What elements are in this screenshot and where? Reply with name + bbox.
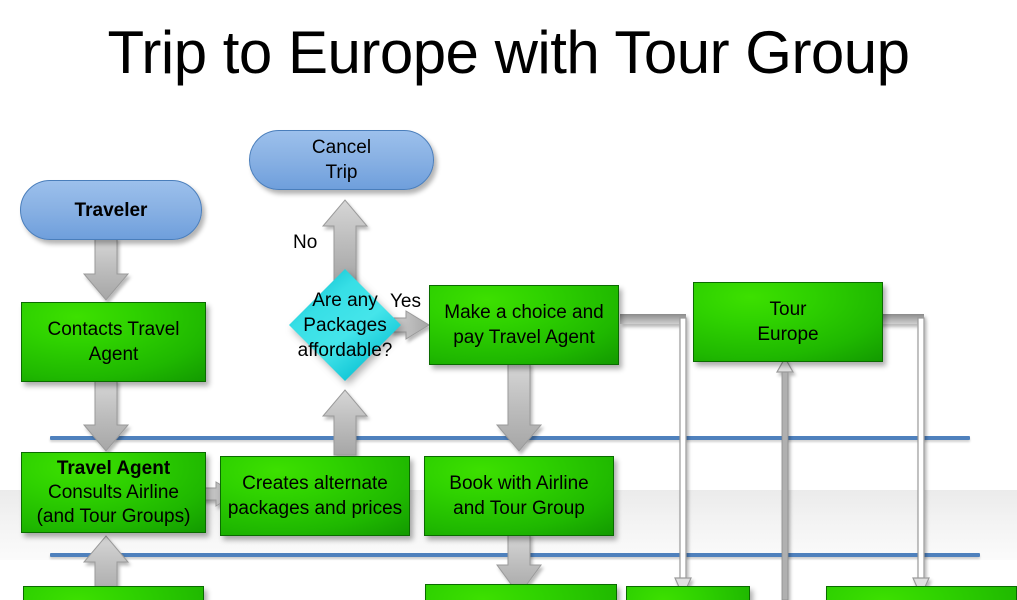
node-cancel-trip-line2: Trip — [325, 160, 357, 185]
node-cancel-trip-line1: Cancel — [312, 135, 371, 160]
node-book-airline[interactable]: Book with Airline and Tour Group — [424, 456, 614, 536]
node-tour-europe[interactable]: Tour Europe — [693, 282, 883, 362]
node-book-line1: Book with Airline — [449, 471, 588, 496]
node-traveler-label: Traveler — [75, 198, 148, 223]
node-bottom-4[interactable] — [826, 586, 1017, 600]
decision-label-block: Are any Packages affordable? — [274, 268, 416, 382]
page-title: Trip to Europe with Tour Group — [0, 14, 1017, 92]
node-creates-line1: Creates alternate — [242, 471, 388, 496]
edge-label-no: No — [293, 232, 317, 254]
node-travel-agent-line1: Travel Agent — [57, 457, 170, 481]
node-bottom-2[interactable] — [425, 584, 617, 600]
decision-line2: Packages — [303, 313, 386, 338]
node-travel-agent[interactable]: Travel Agent Consults Airline (and Tour … — [21, 452, 206, 533]
node-traveler[interactable]: Traveler — [20, 180, 202, 240]
node-creates-line2: packages and prices — [228, 496, 402, 521]
node-travel-agent-line2: Consults Airline — [48, 481, 179, 505]
edge-label-yes: Yes — [390, 291, 421, 313]
arrow-creates-to-decision — [323, 390, 367, 455]
node-bottom-1[interactable] — [23, 586, 204, 600]
arrow-contacts-to-travel-agent — [84, 380, 128, 451]
node-decision-packages[interactable]: Are any Packages affordable? — [288, 268, 402, 382]
node-tour-europe-line1: Tour — [770, 297, 807, 322]
node-contacts-line2: Agent — [89, 342, 139, 367]
decision-line3: affordable? — [298, 338, 393, 363]
node-travel-agent-line3: (and Tour Groups) — [37, 505, 191, 529]
node-creates-packages[interactable]: Creates alternate packages and prices — [220, 456, 410, 536]
node-make-choice-line1: Make a choice and — [444, 300, 604, 325]
slide-canvas: Trip to Europe with Tour Group — [0, 0, 1017, 600]
arrow-bottom-3-to-tour-europe — [777, 358, 793, 600]
arrow-traveler-to-contacts — [84, 238, 128, 300]
node-cancel-trip[interactable]: Cancel Trip — [249, 130, 434, 190]
lane-separator-bottom — [50, 553, 980, 557]
lane-separator-top — [50, 436, 970, 440]
node-contacts-line1: Contacts Travel — [48, 317, 180, 342]
decision-line1: Are any — [312, 288, 377, 313]
node-make-choice-pay[interactable]: Make a choice and pay Travel Agent — [429, 285, 619, 365]
node-bottom-3[interactable] — [626, 586, 750, 600]
node-contacts-travel-agent[interactable]: Contacts Travel Agent — [21, 302, 206, 382]
node-book-line2: and Tour Group — [453, 496, 585, 521]
node-make-choice-line2: pay Travel Agent — [453, 325, 595, 350]
node-tour-europe-line2: Europe — [757, 322, 818, 347]
